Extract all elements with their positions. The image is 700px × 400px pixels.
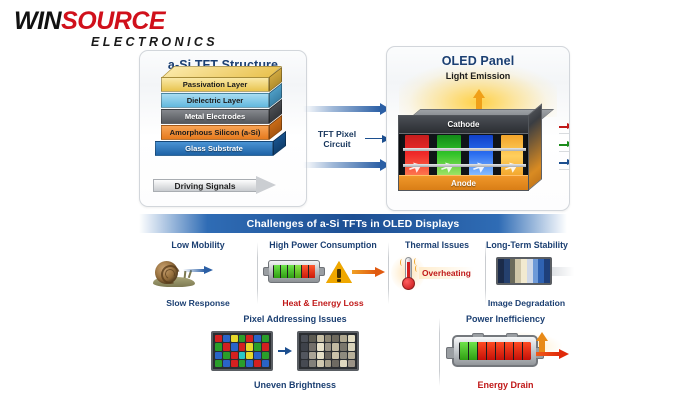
driving-signals-arrow: Driving Signals [153, 177, 278, 194]
degraded-screen-graphic [496, 257, 552, 285]
emitter-row [403, 135, 526, 177]
emitter-output [501, 135, 523, 177]
challenge-high-power: High Power Consumption [258, 240, 388, 308]
logo-wordmark: WINSOURCE [14, 8, 224, 34]
driving-signals-head [256, 176, 276, 194]
legend-arrow-blue-icon [559, 160, 570, 165]
snail-graphic [153, 261, 197, 287]
pixel-grid-faded [297, 331, 359, 371]
thermometer-graphic [399, 257, 417, 291]
light-emission-label: Light Emission [399, 71, 557, 81]
legend-row-red: Red [559, 117, 570, 135]
challenge-caption: Energy Drain [444, 380, 567, 390]
battery-drain-icon [452, 335, 538, 367]
challenges-banner: Challenges of a-Si TFTs in OLED Displays [139, 214, 567, 233]
challenge-caption: Uneven Brightness [175, 380, 415, 390]
tft-layer-amorphous-silicon: Amorphous Silicon (a-Si) [161, 125, 269, 140]
challenge-caption: Slow Response [139, 298, 257, 308]
challenge-power-inefficiency: Power Inefficiency [444, 314, 567, 392]
challenge-long-term-stability: Long-Term Stability Image Degradation [486, 240, 567, 308]
logo-subtitle: ELECTRONICS [14, 35, 224, 49]
oled-right-face [528, 103, 542, 191]
tft-structure-panel: a-Si TFT Structure Passivation Layer Die… [139, 50, 307, 207]
oled-panel: OLED Panel Light Emission Cathode [386, 46, 570, 211]
challenges-banner-title: Challenges of a-Si TFTs in OLED Displays [247, 218, 460, 230]
brand-logo: WINSOURCE ELECTRONICS [14, 8, 224, 50]
challenge-title: Thermal Issues [389, 240, 485, 250]
challenge-title: Low Mobility [139, 240, 257, 250]
challenge-title: Pixel Addressing Issues [175, 314, 415, 324]
oled-front-face: Cathode Anode [398, 115, 529, 191]
challenge-title: Power Inefficiency [444, 314, 567, 324]
divider [439, 318, 440, 386]
tft-to-oled-connector: TFT Pixel Circuit [303, 105, 391, 173]
challenge-title: Long-Term Stability [486, 240, 567, 250]
challenge-pixel-addressing: Pixel Addressing Issues [175, 314, 415, 392]
emitter-green [437, 135, 461, 177]
battery-cells [459, 342, 531, 360]
logo-win-text: WIN [14, 7, 61, 35]
challenge-caption: Heat & Energy Loss [258, 298, 388, 308]
warning-triangle-icon [326, 261, 352, 283]
snail-icon [139, 253, 257, 293]
challenge-thermal: Thermal Issues Overheating x [389, 240, 485, 308]
tft-layer-metal: Metal Electrodes [161, 109, 269, 124]
drain-right-arrow-icon [536, 349, 570, 359]
battery-graphic [268, 260, 320, 283]
connector-arrow-bottom [303, 161, 391, 169]
rgb-legend: Red Green Blue [559, 117, 570, 171]
tft-layer-stack: Passivation Layer Dielectric Layer Metal… [153, 77, 278, 169]
emitter-blue [469, 135, 493, 177]
legend-row-blue: Blue [559, 153, 570, 171]
legend-row-green: Green [559, 135, 570, 153]
tft-layer-label: Amorphous Silicon (a-Si) [162, 126, 268, 139]
tft-layer-label: Dielectric Layer [162, 94, 268, 107]
legend-arrow-red-icon [559, 124, 570, 129]
connector-arrow-top [303, 105, 391, 113]
energy-loss-arrow-icon [352, 267, 386, 277]
battery-cells [273, 265, 315, 278]
emitter-red [405, 135, 429, 177]
tft-layer-label: Metal Electrodes [162, 110, 268, 123]
diagram-canvas: WINSOURCE ELECTRONICS a-Si TFT Structure… [0, 0, 700, 400]
connector-label: TFT Pixel Circuit [307, 129, 367, 149]
driving-signals-label: Driving Signals [153, 179, 257, 192]
challenge-caption: Image Degradation [486, 298, 567, 308]
display-fade-icon [486, 253, 567, 293]
pixel-compare-arrow-icon [278, 347, 292, 355]
thermometer-icon: Overheating [389, 253, 485, 293]
challenge-title: High Power Consumption [258, 240, 388, 250]
overheating-label: Overheating [419, 267, 474, 279]
challenges-row-bottom: Pixel Addressing Issues [139, 314, 567, 392]
legend-arrow-green-icon [559, 142, 570, 147]
anode-layer: Anode [399, 175, 528, 190]
emitter-rail [403, 148, 526, 151]
logo-source-text: SOURCE [61, 7, 165, 35]
challenges-row-top: Low Mobility Slow Response High Power Co… [139, 240, 567, 308]
tft-layer-dielectric: Dielectric Layer [161, 93, 269, 108]
emitter-rail [403, 164, 526, 167]
tft-layer-glass-substrate: Glass Substrate [155, 141, 273, 156]
light-emission-arrow-icon [473, 89, 485, 109]
challenge-low-mobility: Low Mobility Slow Response [139, 240, 257, 308]
slow-arrow-icon [183, 267, 213, 274]
tft-layer-label: Glass Substrate [156, 142, 272, 155]
cathode-layer: Cathode [399, 116, 528, 134]
tft-layer-label: Passivation Layer [162, 78, 268, 91]
battery-warning-icon [258, 253, 388, 293]
tft-layer-passivation: Passivation Layer [161, 77, 269, 92]
pixel-grid-colored [211, 331, 273, 371]
oled-3d-structure: Cathode Anode [398, 109, 550, 199]
